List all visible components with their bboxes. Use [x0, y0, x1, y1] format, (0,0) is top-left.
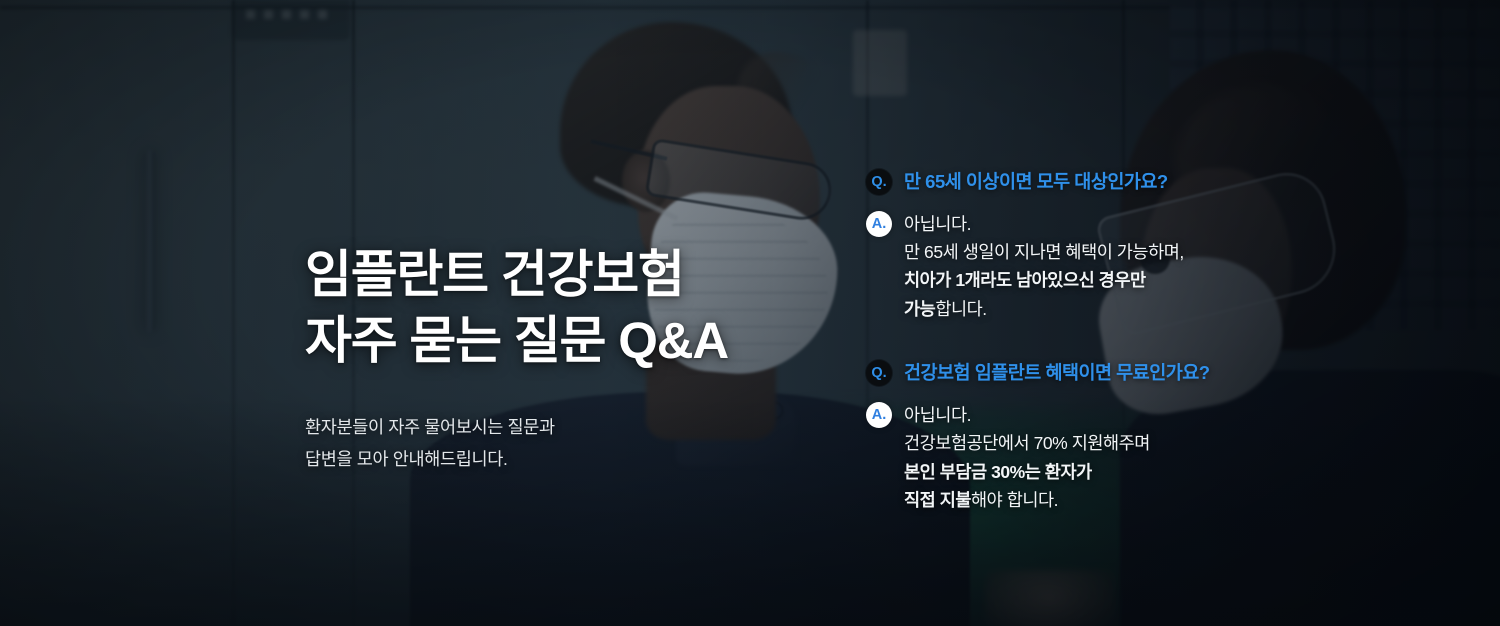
faq-question-row[interactable]: Q. 만 65세 이상이면 모두 대상인가요? — [866, 168, 1296, 196]
answer-line-1: 아닙니다. — [904, 210, 1184, 238]
hero-subcopy: 환자분들이 자주 물어보시는 질문과 답변을 모아 안내해드립니다. — [305, 412, 555, 476]
faq-question-text: 건강보험 임플란트 혜택이면 무료인가요? — [904, 359, 1210, 387]
faq-question-text: 만 65세 이상이면 모두 대상인가요? — [904, 168, 1168, 196]
page-title: 임플란트 건강보험 자주 묻는 질문 Q&A — [305, 242, 728, 375]
faq-answer-row: A. 아닙니다. 건강보험공단에서 70% 지원해주며 본인 부담금 30%는 … — [866, 401, 1296, 514]
answer-line-3: 본인 부담금 30%는 환자가 — [904, 458, 1150, 486]
answer-line-4: 직접 지불해야 합니다. — [904, 486, 1150, 514]
answer-line-2: 건강보험공단에서 70% 지원해주며 — [904, 429, 1150, 457]
hero-content: 임플란트 건강보험 자주 묻는 질문 Q&A 환자분들이 자주 물어보시는 질문… — [0, 0, 1500, 626]
answer-line-4: 가능합니다. — [904, 295, 1184, 323]
answer-line-1: 아닙니다. — [904, 401, 1150, 429]
question-badge-icon: Q. — [866, 169, 892, 195]
answer-line-4-bold: 가능 — [904, 299, 935, 319]
answer-badge-icon: A. — [866, 402, 892, 428]
answer-line-4-rest: 합니다. — [935, 299, 986, 319]
answer-line-2: 만 65세 생일이 지나면 혜택이 가능하며, — [904, 238, 1184, 266]
headline-line-1: 임플란트 건강보험 — [305, 242, 728, 308]
faq-answer-text: 아닙니다. 만 65세 생일이 지나면 혜택이 가능하며, 치아가 1개라도 남… — [904, 210, 1184, 323]
answer-badge-icon: A. — [866, 211, 892, 237]
answer-line-4-bold: 직접 지불 — [904, 490, 971, 510]
faq-answer-text: 아닙니다. 건강보험공단에서 70% 지원해주며 본인 부담금 30%는 환자가… — [904, 401, 1150, 514]
answer-line-4-rest: 해야 합니다. — [971, 490, 1058, 510]
faq-item[interactable]: Q. 건강보험 임플란트 혜택이면 무료인가요? A. 아닙니다. 건강보험공단… — [866, 359, 1296, 514]
faq-hero-banner: 임플란트 건강보험 자주 묻는 질문 Q&A 환자분들이 자주 물어보시는 질문… — [0, 0, 1500, 626]
faq-list: Q. 만 65세 이상이면 모두 대상인가요? A. 아닙니다. 만 65세 생… — [866, 168, 1296, 514]
subcopy-line-1: 환자분들이 자주 물어보시는 질문과 — [305, 412, 555, 444]
faq-answer-row: A. 아닙니다. 만 65세 생일이 지나면 혜택이 가능하며, 치아가 1개라… — [866, 210, 1296, 323]
question-badge-icon: Q. — [866, 360, 892, 386]
faq-item[interactable]: Q. 만 65세 이상이면 모두 대상인가요? A. 아닙니다. 만 65세 생… — [866, 168, 1296, 323]
answer-line-3: 치아가 1개라도 남아있으신 경우만 — [904, 266, 1184, 294]
subcopy-line-2: 답변을 모아 안내해드립니다. — [305, 444, 555, 476]
faq-question-row[interactable]: Q. 건강보험 임플란트 혜택이면 무료인가요? — [866, 359, 1296, 387]
headline-line-2: 자주 묻는 질문 Q&A — [305, 308, 728, 374]
